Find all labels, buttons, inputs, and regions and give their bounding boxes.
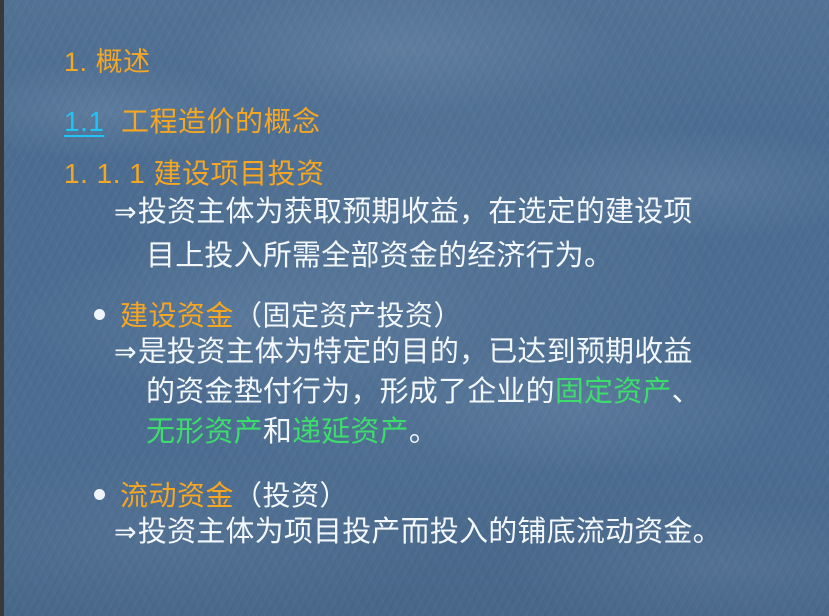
- term-intangible-assets: 无形资产: [146, 416, 263, 448]
- intro-body-line-1-text: 投资主体为获取预期收益，在选定的建设项: [138, 196, 693, 228]
- construction-fund-body-line-2-a: 的资金垫付行为，形成了企业的: [146, 376, 555, 408]
- term-deferred-assets: 递延资产: [292, 416, 409, 448]
- construction-fund-body-line-3-b: 和: [263, 416, 292, 448]
- construction-fund-body-line-3: 无形资产和递延资产。: [146, 418, 438, 447]
- double-arrow-icon: ⇒: [114, 197, 137, 227]
- construction-fund-body-line-1: ⇒是投资主体为特定的目的，已达到预期收益: [114, 338, 693, 367]
- construction-fund-body-line-2: 的资金垫付行为，形成了企业的固定资产、: [146, 378, 701, 407]
- intro-body-line-2: 目上投入所需全部资金的经济行为。: [146, 242, 613, 271]
- double-arrow-icon: ⇒: [114, 517, 137, 547]
- list-item-construction-fund[interactable]: 建设资金（固定资产投资）: [94, 294, 462, 334]
- slide-content: 1. 概述 1.1 工程造价的概念 1. 1. 1 建设项目投资 ⇒投资主体为获…: [4, 0, 829, 616]
- bullet-label-working-capital: 流动资金（投资）: [120, 474, 348, 514]
- heading-level-2-space: [104, 106, 121, 137]
- heading-level-3: 1. 1. 1 建设项目投资: [64, 160, 325, 188]
- heading-level-1: 1. 概述: [64, 49, 151, 76]
- bullet-dot-icon: [94, 489, 105, 500]
- bullet-label-working-capital-term: 流动资金: [120, 480, 234, 511]
- bullet-label-construction-fund-term: 建设资金: [120, 300, 234, 331]
- intro-body-line-1: ⇒投资主体为获取预期收益，在选定的建设项: [114, 198, 693, 227]
- bullet-label-working-capital-paren: （投资）: [234, 480, 348, 511]
- bullet-dot-icon: [94, 309, 105, 320]
- bullet-label-construction-fund-paren: （固定资产投资）: [234, 300, 462, 331]
- bullet-label-construction-fund: 建设资金（固定资产投资）: [120, 294, 462, 334]
- term-fixed-assets: 固定资产: [555, 376, 672, 408]
- heading-level-2-text: 工程造价的概念: [121, 106, 321, 137]
- presentation-slide: 1. 概述 1.1 工程造价的概念 1. 1. 1 建设项目投资 ⇒投资主体为获…: [0, 0, 829, 616]
- construction-fund-body-line-2-c: 、: [672, 376, 701, 408]
- construction-fund-body-line-3-d: 。: [409, 416, 438, 448]
- working-capital-body-line-1-text: 投资主体为项目投产而投入的铺底流动资金。: [138, 516, 722, 548]
- double-arrow-icon: ⇒: [114, 337, 137, 367]
- heading-level-2: 1.1 工程造价的概念: [64, 108, 321, 136]
- heading-level-2-number[interactable]: 1.1: [64, 106, 104, 137]
- working-capital-body-line-1: ⇒投资主体为项目投产而投入的铺底流动资金。: [114, 518, 722, 547]
- construction-fund-body-line-1-text: 是投资主体为特定的目的，已达到预期收益: [138, 336, 693, 368]
- list-item-working-capital[interactable]: 流动资金（投资）: [94, 474, 348, 514]
